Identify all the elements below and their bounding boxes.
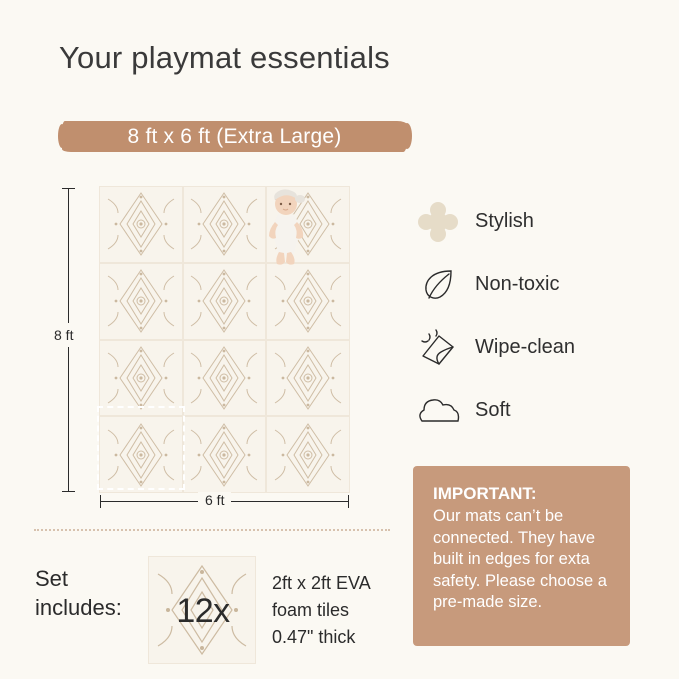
feature-list: Stylish Non-toxic — [413, 190, 663, 442]
set-desc-line3: 0.47" thick — [272, 624, 371, 651]
leaf-icon — [413, 262, 463, 308]
feature-label: Wipe-clean — [475, 336, 575, 359]
mat-tile — [183, 263, 267, 340]
mat-tile — [266, 263, 350, 340]
size-banner: 8 ft x 6 ft (Extra Large) — [62, 117, 407, 157]
feature-item-soft: Soft — [413, 379, 663, 442]
cloud-icon — [413, 388, 463, 434]
flower-icon — [413, 199, 463, 245]
tile-ornament-icon — [102, 418, 180, 492]
feature-item-non-toxic: Non-toxic — [413, 253, 663, 316]
tile-ornament-icon — [269, 341, 347, 415]
tile-ornament-icon — [185, 264, 263, 338]
mat-tile — [99, 340, 183, 417]
size-banner-label: 8 ft x 6 ft (Extra Large) — [62, 117, 407, 157]
tile-ornament-icon — [185, 341, 263, 415]
feature-label: Soft — [475, 399, 511, 422]
set-desc-line2: foam tiles — [272, 597, 371, 624]
sample-tile: 12x — [148, 556, 256, 664]
mat-tile — [183, 186, 267, 263]
height-axis-cap-top — [62, 188, 75, 189]
important-note-box: IMPORTANT: Our mats can’t be connected. … — [413, 466, 630, 646]
page-title: Your playmat essentials — [59, 40, 390, 76]
tile-ornament-icon — [185, 418, 263, 492]
height-axis-cap-bottom — [62, 491, 75, 492]
tile-ornament-icon — [102, 341, 180, 415]
tile-ornament-icon — [102, 187, 180, 261]
mat-tile — [266, 340, 350, 417]
mat-tile — [99, 416, 183, 493]
set-includes-description: 2ft x 2ft EVA foam tiles 0.47" thick — [272, 570, 371, 651]
infographic-page: Your playmat essentials 8 ft x 6 ft (Ext… — [0, 0, 679, 679]
mat-tile — [183, 340, 267, 417]
playmat-grid — [99, 186, 350, 493]
tile-ornament-icon — [185, 187, 263, 261]
set-includes-label-line2: includes: — [35, 593, 122, 622]
baby-photo — [256, 188, 312, 266]
height-label: 8 ft — [52, 323, 75, 347]
tile-ornament-icon — [269, 264, 347, 338]
set-desc-line1: 2ft x 2ft EVA — [272, 570, 371, 597]
mat-tile — [183, 416, 267, 493]
tile-ornament-icon — [102, 264, 180, 338]
mat-tile — [266, 416, 350, 493]
set-includes-label-line1: Set — [35, 564, 122, 593]
tile-count: 12x — [149, 557, 256, 664]
tile-ornament-icon — [269, 418, 347, 492]
feature-label: Stylish — [475, 210, 534, 233]
mat-diagram: 8 ft — [50, 178, 390, 508]
feature-item-wipe-clean: Wipe-clean — [413, 316, 663, 379]
wipe-cloth-icon — [413, 325, 463, 371]
set-includes-label: Set includes: — [35, 564, 122, 623]
feature-item-stylish: Stylish — [413, 190, 663, 253]
important-body: Our mats can’t be connected. They have b… — [433, 506, 610, 614]
important-title: IMPORTANT: — [433, 484, 610, 504]
width-axis-cap-left — [100, 495, 101, 508]
width-label: 6 ft — [198, 492, 231, 508]
mat-tile — [99, 263, 183, 340]
feature-label: Non-toxic — [475, 273, 559, 296]
mat-tile — [99, 186, 183, 263]
width-axis-cap-right — [348, 495, 349, 508]
section-divider — [34, 529, 390, 531]
